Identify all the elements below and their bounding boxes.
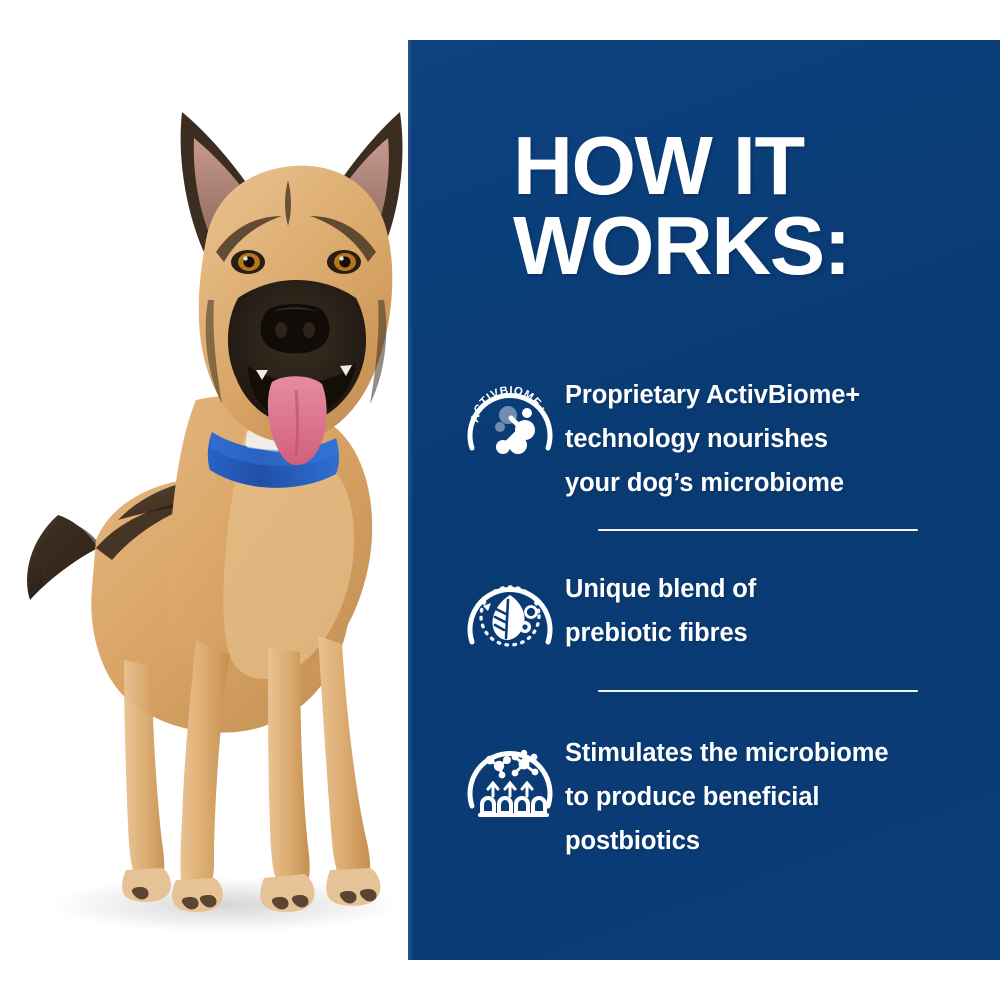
prebiotic-fibre-leaf-icon (458, 564, 562, 668)
promo-graphic: HOW IT WORKS: ACTIVBIOME+ (0, 0, 1000, 1000)
feature-line-1: Proprietary ActivBiome+ (565, 374, 955, 418)
feature-item-activbiome: ACTIVBIOME+ Proprietary ActivBiome+ tech… (455, 368, 955, 506)
feature-item-prebiotic-fibres: Unique blend of prebiotic fibres (455, 562, 955, 668)
feature-divider (598, 529, 918, 531)
feature-item-postbiotics: Stimulates the microbiome to produce ben… (455, 726, 955, 864)
german-shepherd-illustration (0, 0, 430, 1000)
feature-text-prebiotic-fibres: Unique blend of prebiotic fibres (565, 562, 955, 656)
feature-text-postbiotics: Stimulates the microbiome to produce ben… (565, 726, 955, 864)
feature-icon-container (455, 726, 565, 832)
page-title-line-2: WORKS: (513, 206, 933, 286)
feature-line-1: Stimulates the microbiome (565, 732, 955, 776)
feature-line-3: postbiotics (565, 820, 955, 864)
feature-line-1: Unique blend of (565, 568, 955, 612)
microbiome-villi-postbiotics-icon (458, 728, 562, 832)
feature-line-2: prebiotic fibres (565, 612, 955, 656)
panel-left-bevel (408, 40, 413, 960)
feature-text-activbiome: Proprietary ActivBiome+ technology nouri… (565, 368, 955, 506)
feature-line-2: to produce beneficial (565, 776, 955, 820)
feature-line-3: your dog’s microbiome (565, 462, 955, 506)
dog-photo (0, 0, 430, 1000)
feature-line-2: technology nourishes (565, 418, 955, 462)
page-title-line-1: HOW IT (513, 126, 933, 206)
feature-icon-container: ACTIVBIOME+ (455, 368, 565, 474)
page-title: HOW IT WORKS: (513, 126, 933, 285)
feature-icon-container (455, 562, 565, 668)
feature-divider (598, 690, 918, 692)
activbiome-plus-icon: ACTIVBIOME+ (458, 370, 562, 474)
